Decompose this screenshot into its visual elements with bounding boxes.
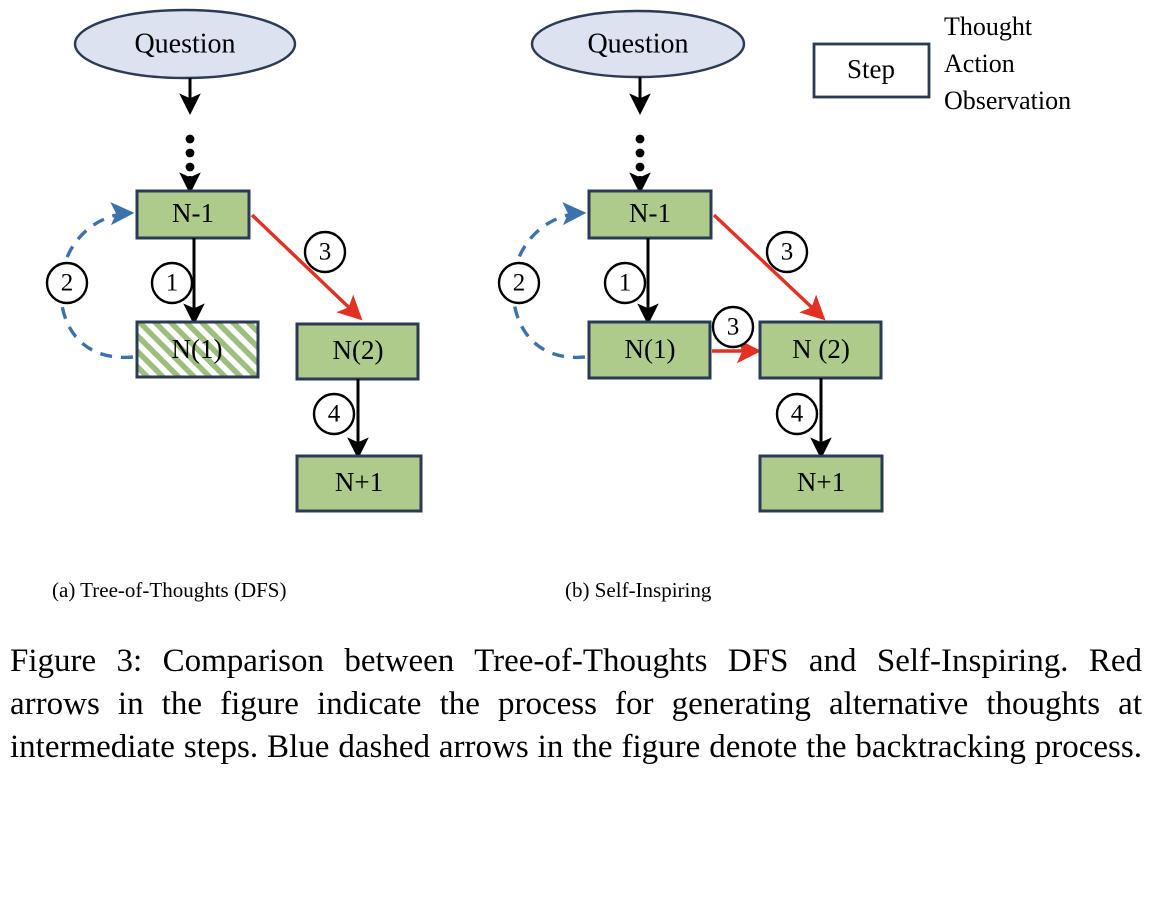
panel-a-node-n-minus-1[interactable]: N-1 (137, 191, 249, 238)
panel-b-step-marker-1: 1 (605, 263, 645, 303)
panel-a-vertical-ellipsis (186, 135, 195, 172)
panel-a-node-n-plus-1[interactable]: N+1 (297, 456, 421, 511)
panel-a-step-marker-3: 3 (305, 232, 345, 272)
panel-b-step-marker-3-lower: 3 (713, 307, 753, 347)
legend-step-box: Step (814, 44, 929, 97)
panel-a-question-label: Question (134, 28, 235, 59)
figure-3-root: Question N-1 1 (0, 0, 1152, 918)
subcaption-b: (b) Self-Inspiring (565, 578, 711, 603)
panel-b-step-marker-3-upper: 3 (767, 232, 807, 272)
panel-a-step-marker-2: 2 (47, 263, 87, 303)
legend-description: Thought Action Observation (944, 8, 1144, 119)
panel-a-n-plus-1-label: N+1 (335, 467, 383, 497)
panel-b-node-n1[interactable]: N(1) (589, 322, 710, 378)
panel-a-node-n2[interactable]: N(2) (297, 324, 418, 379)
subcaption-row: (a) Tree-of-Thoughts (DFS) (b) Self-Insp… (0, 578, 1152, 612)
legend-line-observation: Observation (944, 82, 1144, 119)
panel-b-step-marker-1-text: 1 (619, 270, 632, 297)
panel-a-question-node[interactable]: Question (75, 10, 295, 78)
panel-b-vertical-ellipsis (636, 135, 645, 172)
panel-b-step-marker-3-lower-text: 3 (727, 314, 740, 341)
panel-b-n2-label: N (2) (792, 334, 850, 364)
subcaption-a: (a) Tree-of-Thoughts (DFS) (52, 578, 286, 603)
panel-b-step-marker-4: 4 (777, 394, 817, 434)
panel-a-node-n1[interactable]: N(1) (137, 322, 258, 377)
panel-b-step-marker-2-text: 2 (513, 270, 526, 297)
panel-b-step-marker-4-text: 4 (791, 401, 804, 428)
panel-a-step-marker-1-text: 1 (166, 270, 179, 297)
panel-a-step-marker-1: 1 (152, 263, 192, 303)
panel-b-step-marker-2: 2 (499, 263, 539, 303)
legend-step-label: Step (847, 54, 895, 84)
panel-a-step-marker-2-text: 2 (61, 270, 74, 297)
panel-b-node-n2[interactable]: N (2) (760, 322, 881, 378)
panel-a-step-marker-3-text: 3 (319, 239, 332, 266)
panel-a-n-minus-1-label: N-1 (172, 198, 214, 228)
figure-caption: Figure 3: Comparison between Tree-of-Tho… (10, 640, 1142, 812)
panel-b-question-label: Question (587, 28, 688, 59)
panel-a-n2-label: N(2) (333, 335, 384, 365)
panel-b-n-plus-1-label: N+1 (797, 467, 845, 497)
panel-b-step-marker-3-upper-text: 3 (781, 239, 794, 266)
panel-b-node-n-minus-1[interactable]: N-1 (589, 191, 711, 238)
panel-a: Question N-1 1 (47, 10, 421, 511)
panel-a-step-marker-4: 4 (314, 394, 354, 434)
panel-b-n1-label: N(1) (625, 334, 676, 364)
panel-a-n1-label: N(1) (172, 334, 223, 364)
panel-a-edge-red-n-minus-1-to-n2 (252, 215, 360, 318)
panel-b-node-n-plus-1[interactable]: N+1 (760, 456, 882, 511)
panel-b-question-node[interactable]: Question (532, 11, 744, 77)
panel-b-n-minus-1-label: N-1 (629, 198, 671, 228)
panel-a-step-marker-4-text: 4 (328, 401, 341, 428)
legend-line-action: Action (944, 45, 1144, 82)
panel-b-edge-red-n-minus-1-to-n2 (714, 215, 823, 318)
legend-line-thought: Thought (944, 8, 1144, 45)
